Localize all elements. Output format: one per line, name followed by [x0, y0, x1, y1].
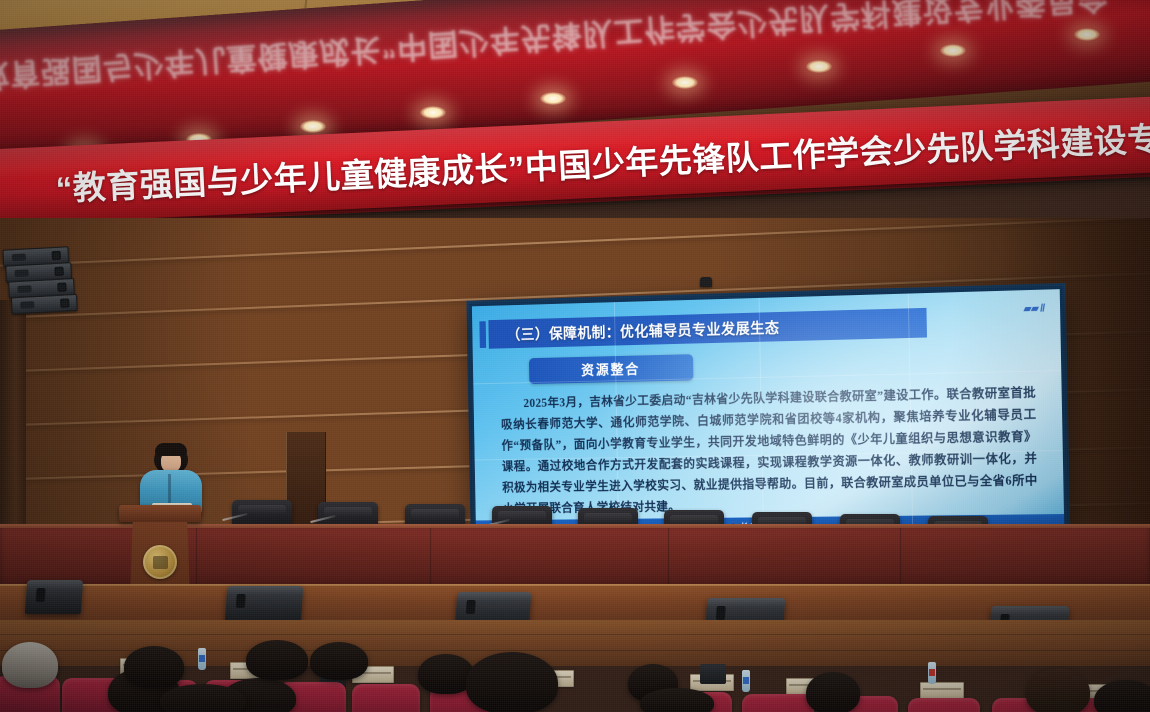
conference-hall-photo: “教育强国与少年儿童健康成长”中国少年先锋队工作学会少先队学科建设专业委员会 “…	[0, 0, 1150, 712]
water-bottle	[742, 670, 750, 692]
audience-seat	[352, 684, 420, 712]
laptop	[700, 664, 726, 684]
slide-body-text: 2025年3月，吉林省少工委启动“吉林省少先队学科建设联合教研室”建设工作。联合…	[501, 382, 1039, 520]
audience-seat	[742, 694, 814, 712]
attendee-head	[806, 672, 860, 712]
slide-accent-bar	[479, 321, 486, 348]
slide-title: （三）保障机制：优化辅导员专业发展生态	[488, 308, 927, 349]
attendee-head	[466, 652, 558, 712]
attendee-head	[160, 684, 246, 712]
downlight	[540, 92, 566, 105]
audience-seat	[908, 698, 980, 712]
name-card	[920, 682, 964, 699]
attendee-head	[1026, 668, 1090, 712]
stage-floor	[0, 586, 1150, 624]
line-array-speaker-cluster	[2, 246, 71, 311]
water-bottle	[198, 648, 206, 670]
screen-top-camera	[700, 277, 712, 287]
lectern-top	[119, 505, 201, 522]
attendee-head	[640, 688, 714, 712]
downlight	[672, 76, 698, 89]
stage-monitor	[25, 580, 83, 614]
presenter-fringe	[155, 443, 187, 456]
downlight	[300, 120, 326, 133]
presentation-slide: （三）保障机制：优化辅导员专业发展生态 资源整合 2025年3月，吉林省少工委启…	[472, 289, 1064, 538]
downlight	[1074, 28, 1100, 41]
attendee-head	[124, 646, 184, 688]
led-video-wall: （三）保障机制：优化辅导员专业发展生态 资源整合 2025年3月，吉林省少工委启…	[469, 286, 1067, 541]
attendee-head	[310, 642, 368, 680]
downlight	[940, 44, 966, 57]
audience-area	[0, 640, 1150, 712]
led-screen-surface: （三）保障机制：优化辅导员专业发展生态 资源整合 2025年3月，吉林省少工委启…	[472, 289, 1064, 538]
attendee-head	[2, 642, 58, 688]
university-crest-icon	[143, 545, 177, 579]
attendee-head	[246, 640, 308, 680]
downlight	[420, 106, 446, 119]
stage-monitor	[225, 586, 304, 624]
water-bottle	[928, 662, 936, 684]
slide-corner-mark: ▰▰ //	[1023, 302, 1044, 316]
downlight	[806, 60, 832, 73]
